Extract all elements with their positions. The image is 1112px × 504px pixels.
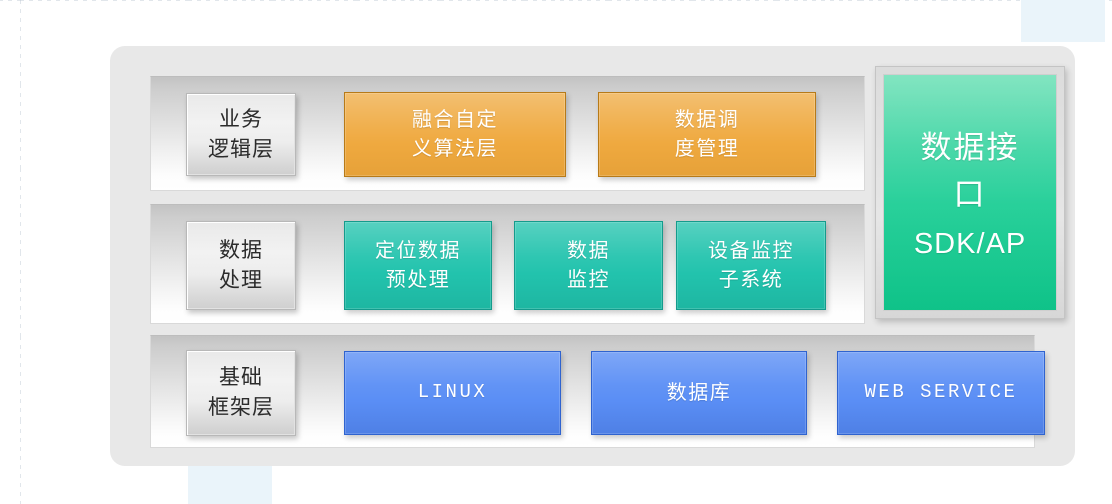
layer-chip-line: 业务: [219, 105, 263, 135]
module-label-line: 设备监控: [708, 237, 794, 266]
module-web-service[interactable]: WEB SERVICE: [837, 351, 1045, 435]
module-label-line: 数据: [567, 237, 610, 266]
layer-chip-line: 处理: [219, 266, 263, 296]
module-data-interface[interactable]: 数据接 口 SDK/AP: [883, 74, 1057, 311]
grid-cell-tint-top-right: [1021, 0, 1105, 42]
layer-chip-data-processing: 数据 处理: [186, 221, 296, 310]
data-interface-label-line: 数据接: [921, 124, 1020, 171]
module-linux[interactable]: LINUX: [344, 351, 561, 435]
data-interface-frame: 数据接 口 SDK/AP: [875, 66, 1065, 319]
module-data-monitoring[interactable]: 数据 监控: [514, 221, 663, 310]
module-label-line: 度管理: [675, 135, 740, 164]
data-interface-sdk-label: SDK/AP: [914, 228, 1026, 261]
module-label-line: 数据调: [675, 106, 740, 135]
layer-chip-line: 框架层: [208, 393, 274, 423]
layer-band-data-processing: 数据 处理 定位数据 预处理 数据 监控 设备监控 子系统: [150, 204, 865, 324]
module-label-line: 监控: [567, 266, 610, 295]
module-label-line: 子系统: [719, 266, 784, 295]
module-label-line: LINUX: [418, 379, 488, 407]
module-device-monitor-subsystem[interactable]: 设备监控 子系统: [676, 221, 826, 310]
module-database[interactable]: 数据库: [591, 351, 807, 435]
layer-chip-business-logic: 业务 逻辑层: [186, 93, 296, 176]
module-label-line: WEB SERVICE: [865, 379, 1018, 407]
module-label-line: 定位数据: [375, 237, 461, 266]
data-interface-label-line: 口: [954, 171, 987, 218]
layer-chip-infrastructure: 基础 框架层: [186, 350, 296, 436]
module-label-line: 预处理: [386, 266, 451, 295]
module-label-line: 数据库: [667, 379, 732, 408]
module-label-line: 义算法层: [412, 135, 498, 164]
module-label-line: 融合自定: [412, 106, 498, 135]
layer-band-infrastructure: 基础 框架层 LINUX 数据库 WEB SERVICE: [150, 335, 1035, 448]
layer-chip-line: 逻辑层: [208, 135, 274, 165]
architecture-outer-panel: 业务 逻辑层 融合自定 义算法层 数据调 度管理 数据 处理 定位数据 预处理 …: [110, 46, 1075, 466]
module-data-scheduling[interactable]: 数据调 度管理: [598, 92, 816, 177]
layer-band-business-logic: 业务 逻辑层 融合自定 义算法层 数据调 度管理: [150, 76, 865, 191]
module-positioning-preprocess[interactable]: 定位数据 预处理: [344, 221, 492, 310]
layer-chip-line: 基础: [219, 363, 263, 393]
layer-chip-line: 数据: [219, 236, 263, 266]
module-fusion-algorithm[interactable]: 融合自定 义算法层: [344, 92, 566, 177]
grid-cell-tint-bottom-left: [188, 462, 272, 504]
